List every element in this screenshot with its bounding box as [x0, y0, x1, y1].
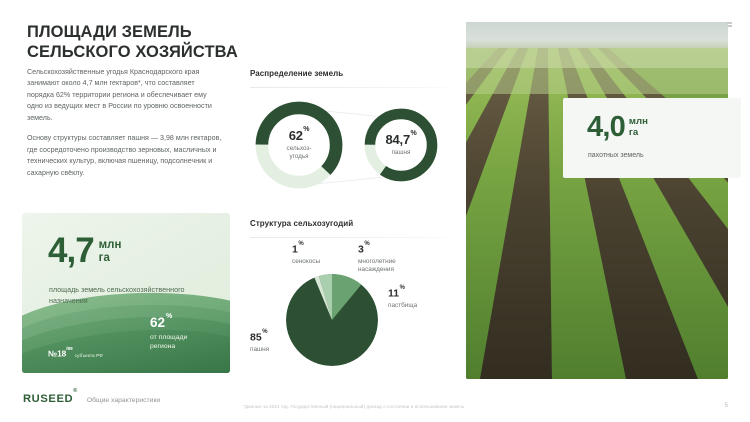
page-title-line1: ПЛОЩАДИ ЗЕМЕЛЬ	[27, 23, 192, 41]
donut-pashnya-label: 84,7% пашня	[360, 104, 442, 186]
panel-divider-structure	[250, 237, 446, 238]
panel-divider-distribution	[250, 87, 446, 88]
stat-card-share-caption-line2: региона	[150, 343, 175, 350]
stat-card-share-value: 62%	[150, 316, 187, 330]
stat-card-agricultural-land: 4,7 млн га площадь земель сельскохозяйст…	[22, 213, 230, 373]
pie-label-senokosy-number: 1	[292, 244, 298, 256]
pie-label-senokosy: 1% сенокосы	[292, 244, 320, 266]
pie-label-pastbishcha-number: 11	[388, 288, 399, 300]
brand-logo-text: RUSEED	[23, 393, 73, 405]
pie-label-pastbishcha-caption: пастбища	[388, 302, 417, 310]
overlay-unit-line1: млн	[629, 116, 648, 127]
stat-card-caption: площадь земель сельскохозяйственного наз…	[49, 285, 199, 307]
panel-title-distribution: Распределение земель	[250, 69, 343, 78]
overlay-value-group: 4,0 млн га	[587, 114, 648, 140]
donut-pashnya: 84,7% пашня	[360, 104, 442, 186]
pie-label-mnogoletnie-caption-line1: многолетние	[358, 258, 396, 265]
stat-card-value: 4,7	[48, 235, 94, 267]
stat-card-share-badge: 62% от площади региона	[150, 316, 187, 351]
overlay-unit-line2: га	[629, 127, 638, 138]
donut-pashnya-percent: %	[410, 130, 416, 137]
brand-logo-registered-icon: ®	[73, 388, 78, 394]
stat-card-share-caption: от площади региона	[150, 333, 187, 351]
overlay-value: 4,0	[587, 114, 625, 140]
overlay-unit: млн га	[629, 117, 648, 138]
pie-label-mnogoletnie-caption: многолетние насаждения	[358, 258, 396, 275]
footer-section-label: Общие характеристики	[87, 397, 160, 404]
pie-label-senokosy-caption: сенокосы	[292, 258, 320, 266]
pie-label-pastbishcha-percent: %	[400, 285, 405, 291]
donut-chart-group: 62% сельхоз- угодья 84,7% пашня	[250, 96, 450, 194]
donut-selhoz-ugodya-caption-line1: сельхоз-	[287, 145, 312, 152]
intro-text-block: Сельскохозяйственные угодья Краснодарско…	[27, 67, 223, 179]
donut-selhoz-ugodya-caption: сельхоз- угодья	[287, 145, 312, 161]
stat-card-rank: №18/89субъекта РФ	[48, 349, 103, 359]
intro-paragraph-2: Основу структуры составляет пашня — 3,98…	[27, 133, 223, 179]
donut-selhoz-ugodya-caption-line2: угодья	[289, 153, 308, 160]
pie-label-mnogoletnie-caption-line2: насаждения	[358, 266, 394, 273]
pie-label-mnogoletnie-percent: %	[364, 241, 369, 247]
field-photo	[466, 22, 728, 379]
pie-label-mnogoletnie-value: 3%	[358, 244, 396, 255]
pie-label-pashnya-caption: пашня	[250, 346, 269, 354]
stat-card-share-percent: %	[166, 313, 172, 320]
pie-label-pastbishcha: 11% пастбища	[388, 288, 417, 310]
pie-label-pashnya: 85% пашня	[250, 332, 269, 354]
donut-selhoz-ugodya-value: 62%	[289, 129, 310, 142]
pie-chart-structure: 1% сенокосы 3% многолетние насаждения 11…	[250, 244, 450, 372]
page-title-line2: СЕЛЬСКОГО ХОЗЯЙСТВА	[27, 43, 238, 61]
stat-card-unit-line2: га	[99, 252, 110, 264]
donut-selhoz-ugodya-number: 62	[289, 128, 303, 143]
pie-label-mnogoletnie: 3% многолетние насаждения	[358, 244, 396, 275]
pie-label-senokosy-percent: %	[298, 241, 303, 247]
pie-label-pastbishcha-value: 11%	[388, 288, 417, 299]
slide-root: Сельскохозяйственный обзор региона | Кра…	[0, 0, 750, 422]
pie-label-pashnya-percent: %	[262, 329, 267, 335]
donut-pashnya-caption: пашня	[392, 149, 411, 157]
stat-card-unit-line1: млн	[99, 239, 122, 251]
pie-label-pashnya-value: 85%	[250, 332, 269, 343]
donut-selhoz-ugodya-label: 62% сельхоз- угодья	[250, 96, 348, 194]
stat-card-rank-value: №18	[48, 350, 66, 359]
pie-label-mnogoletnie-number: 3	[358, 244, 364, 256]
stat-card-share-number: 62	[150, 315, 165, 330]
donut-selhoz-ugodya-percent: %	[303, 126, 309, 133]
overlay-card-arable-land: 4,0 млн га пахотных земель	[563, 98, 741, 178]
stat-card-value-group: 4,7 млн га	[48, 235, 121, 267]
pie-label-senokosy-value: 1%	[292, 244, 320, 255]
donut-pashnya-value: 84,7%	[385, 133, 416, 146]
donut-selhoz-ugodya: 62% сельхоз- угодья	[250, 96, 348, 194]
stat-card-share-caption-line1: от площади	[150, 334, 187, 341]
panel-title-structure: Структура сельхозугодий	[250, 219, 353, 228]
pie-chart-structure-svg	[286, 274, 378, 366]
donut-pashnya-number: 84,7	[385, 132, 410, 147]
pie-label-pashnya-number: 85	[250, 332, 262, 344]
page-title: ПЛОЩАДИ ЗЕМЕЛЬ СЕЛЬСКОГО ХОЗЯЙСТВА	[27, 22, 238, 63]
overlay-caption: пахотных земель	[588, 152, 644, 159]
stat-card-unit: млн га	[99, 239, 122, 265]
stat-card-rank-note: субъекта РФ	[75, 354, 103, 359]
footer-left: RUSEED® Общие характеристики	[23, 393, 160, 405]
brand-logo: RUSEED®	[23, 393, 78, 405]
intro-paragraph-1: Сельскохозяйственные угодья Краснодарско…	[27, 67, 223, 124]
footnote: *Данные за 2024 год. Государственный (на…	[243, 404, 464, 409]
page-number: 5	[725, 402, 728, 409]
stat-card-rank-total: /89	[66, 346, 72, 351]
